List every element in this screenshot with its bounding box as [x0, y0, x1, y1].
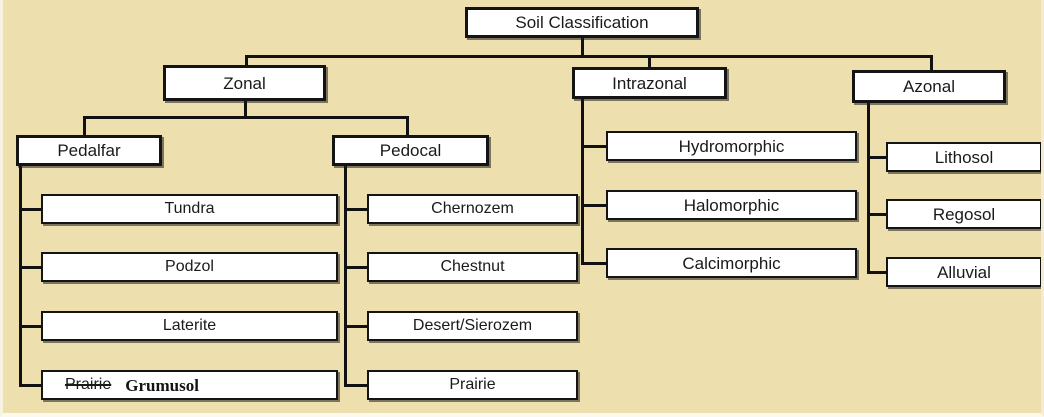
node-zonal[interactable]: Zonal	[163, 65, 326, 101]
node-label: Desert/Sierozem	[413, 318, 532, 334]
node-label: Regosol	[933, 206, 995, 223]
node-alluvial[interactable]: Alluvial	[886, 257, 1042, 287]
connector-drop-pedalfar	[83, 116, 86, 136]
node-label: Laterite	[163, 318, 216, 334]
node-label: Prairie	[449, 377, 495, 393]
node-halomorphic[interactable]: Halomorphic	[606, 190, 857, 220]
connector-stub-grumusol	[19, 384, 43, 387]
node-chernozem[interactable]: Chernozem	[367, 194, 578, 224]
node-label: Pedocal	[380, 142, 441, 159]
node-label: Hydromorphic	[679, 138, 785, 155]
node-label: Pedalfar	[57, 142, 120, 159]
soil-classification-diagram: Soil Classification Zonal Intrazonal Azo…	[0, 0, 1044, 417]
node-label: Soil Classification	[515, 14, 648, 31]
connector-stub-calcimorphic	[581, 262, 608, 265]
connector-stub-alluvial	[867, 271, 888, 274]
node-podzol[interactable]: Podzol	[41, 252, 338, 282]
node-label: Intrazonal	[612, 75, 687, 92]
node-intrazonal[interactable]: Intrazonal	[572, 67, 727, 99]
node-calcimorphic[interactable]: Calcimorphic	[606, 248, 857, 278]
node-label: Azonal	[903, 78, 955, 95]
node-label: Alluvial	[937, 264, 991, 281]
node-pedalfar[interactable]: Pedalfar	[16, 135, 162, 166]
connector-pedocal-spine	[344, 165, 347, 386]
connector-stub-prairie	[344, 384, 369, 387]
node-regosol[interactable]: Regosol	[886, 199, 1042, 229]
connector-stub-lithosol	[867, 156, 888, 159]
node-prairie-grumusol[interactable]: Prairie Grumusol	[41, 370, 338, 400]
connector-azonal-spine	[867, 101, 870, 273]
node-desert-sierozem[interactable]: Desert/Sierozem	[367, 311, 578, 341]
node-prairie[interactable]: Prairie	[367, 370, 578, 400]
connector-pedalfar-spine	[19, 165, 22, 386]
connector-stub-desert	[344, 325, 369, 328]
node-label: Halomorphic	[684, 197, 779, 214]
node-lithosol[interactable]: Lithosol	[886, 142, 1042, 172]
connector-stub-regosol	[867, 213, 888, 216]
replacement-term-grumusol: Grumusol	[125, 377, 199, 394]
node-label: Podzol	[165, 259, 214, 275]
connector-stub-hydromorphic	[581, 145, 608, 148]
connector-stub-tundra	[19, 208, 43, 211]
node-tundra[interactable]: Tundra	[41, 194, 338, 224]
node-label: Zonal	[223, 75, 266, 92]
connector-drop-pedocal	[406, 116, 409, 136]
node-hydromorphic[interactable]: Hydromorphic	[606, 131, 857, 161]
connector-stub-chernozem	[344, 208, 369, 211]
node-label: Chernozem	[431, 201, 514, 217]
node-label: Lithosol	[935, 149, 994, 166]
node-soil-classification[interactable]: Soil Classification	[465, 7, 699, 38]
node-label: Calcimorphic	[682, 255, 780, 272]
node-chestnut[interactable]: Chestnut	[367, 252, 578, 282]
connector-intrazonal-spine	[581, 98, 584, 264]
node-laterite[interactable]: Laterite	[41, 311, 338, 341]
node-label: Tundra	[164, 201, 214, 217]
struck-out-term-prairie: Prairie	[65, 377, 111, 393]
connector-stub-halomorphic	[581, 204, 608, 207]
connector-root-bus	[245, 55, 933, 58]
node-label: Chestnut	[440, 259, 504, 275]
connector-stub-laterite	[19, 325, 43, 328]
node-pedocal[interactable]: Pedocal	[332, 135, 489, 166]
connector-stub-podzol	[19, 266, 43, 269]
connector-zonal-bus	[83, 116, 409, 119]
node-azonal[interactable]: Azonal	[852, 70, 1006, 103]
connector-stub-chestnut	[344, 266, 369, 269]
